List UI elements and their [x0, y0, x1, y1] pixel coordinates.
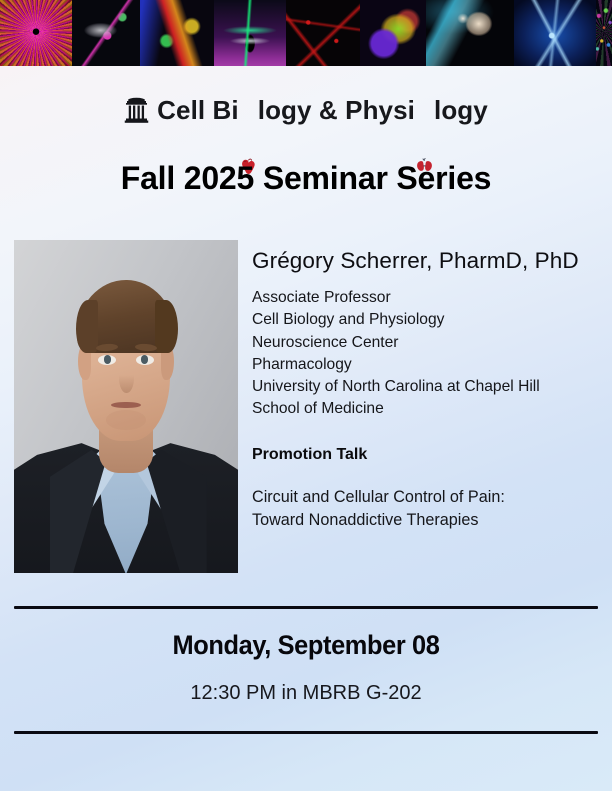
affiliation-line: Pharmacology — [252, 354, 602, 376]
talk-title: Circuit and Cellular Control of Pain: To… — [252, 486, 602, 533]
banner-tile-2 — [72, 0, 140, 66]
talk-type-label: Promotion Talk — [252, 446, 602, 464]
logo-wordmark: Cell Bi logy & Physi logy — [157, 95, 488, 126]
talk-title-line-2: Toward Nonaddictive Therapies — [252, 509, 602, 532]
talk-title-line-1: Circuit and Cellular Control of Pain: — [252, 486, 602, 509]
logo-text-part2: logy & Physi — [258, 95, 415, 126]
banner-tile-7 — [426, 0, 514, 66]
green-magenta-brain-section-micrograph — [214, 0, 286, 66]
banner-tile-5 — [286, 0, 360, 66]
banner-tile-8 — [514, 0, 596, 66]
affiliation-line: Cell Biology and Physiology — [252, 309, 602, 331]
department-logo: Cell Bi logy & Physi logy — [0, 95, 612, 126]
portrait-iris-left — [104, 355, 112, 364]
green-purple-cell-micrograph — [360, 0, 426, 66]
portrait-chin — [106, 410, 146, 430]
red-vascular-network-micrograph — [286, 0, 360, 66]
kidney-icon — [415, 95, 434, 115]
affiliation-line: University of North Carolina at Chapel H… — [252, 376, 602, 398]
unc-old-well-icon — [124, 97, 149, 125]
portrait-hair-right — [155, 300, 177, 353]
portrait-hair-left — [76, 300, 98, 353]
event-time-location: 12:30 PM in MBRB G-202 — [0, 682, 612, 705]
logo-text-part3: logy — [434, 95, 488, 126]
speaker-headshot-image — [14, 240, 238, 573]
divider-bottom — [14, 731, 598, 734]
logo-text-part1: Cell Bi — [157, 95, 239, 126]
speaker-info: Grégory Scherrer, PharmD, PhD Associate … — [252, 248, 602, 532]
portrait-nose — [119, 363, 134, 393]
micrograph-banner — [0, 0, 612, 66]
grey-web-magenta-neuron-micrograph — [72, 0, 140, 66]
magenta-radial-starburst-micrograph — [0, 0, 72, 66]
multicolor-fiber-tract-micrograph — [140, 0, 214, 66]
divider-top — [14, 606, 598, 609]
affiliation-line: School of Medicine — [252, 398, 602, 420]
speaker-affiliations: Associate Professor Cell Biology and Phy… — [252, 287, 602, 421]
speaker-portrait — [14, 240, 238, 573]
affiliation-line: Neuroscience Center — [252, 332, 602, 354]
banner-tile-9 — [596, 0, 612, 66]
event-date: Monday, September 08 — [18, 630, 593, 661]
heart-icon — [239, 95, 258, 115]
speckled-multicolor-field-micrograph — [596, 0, 612, 66]
banner-tile-6 — [360, 0, 426, 66]
page-title: Fall 2025 Seminar Series — [0, 160, 612, 197]
blue-branching-neuron-micrograph — [514, 0, 596, 66]
banner-tile-1 — [0, 0, 72, 66]
speaker-name: Grégory Scherrer, PharmD, PhD — [252, 248, 602, 274]
banner-tile-4 — [214, 0, 286, 66]
cyan-tissue-section-micrograph — [426, 0, 514, 66]
banner-tile-3 — [140, 0, 214, 66]
affiliation-line: Associate Professor — [252, 287, 602, 309]
portrait-mouth — [111, 402, 140, 408]
